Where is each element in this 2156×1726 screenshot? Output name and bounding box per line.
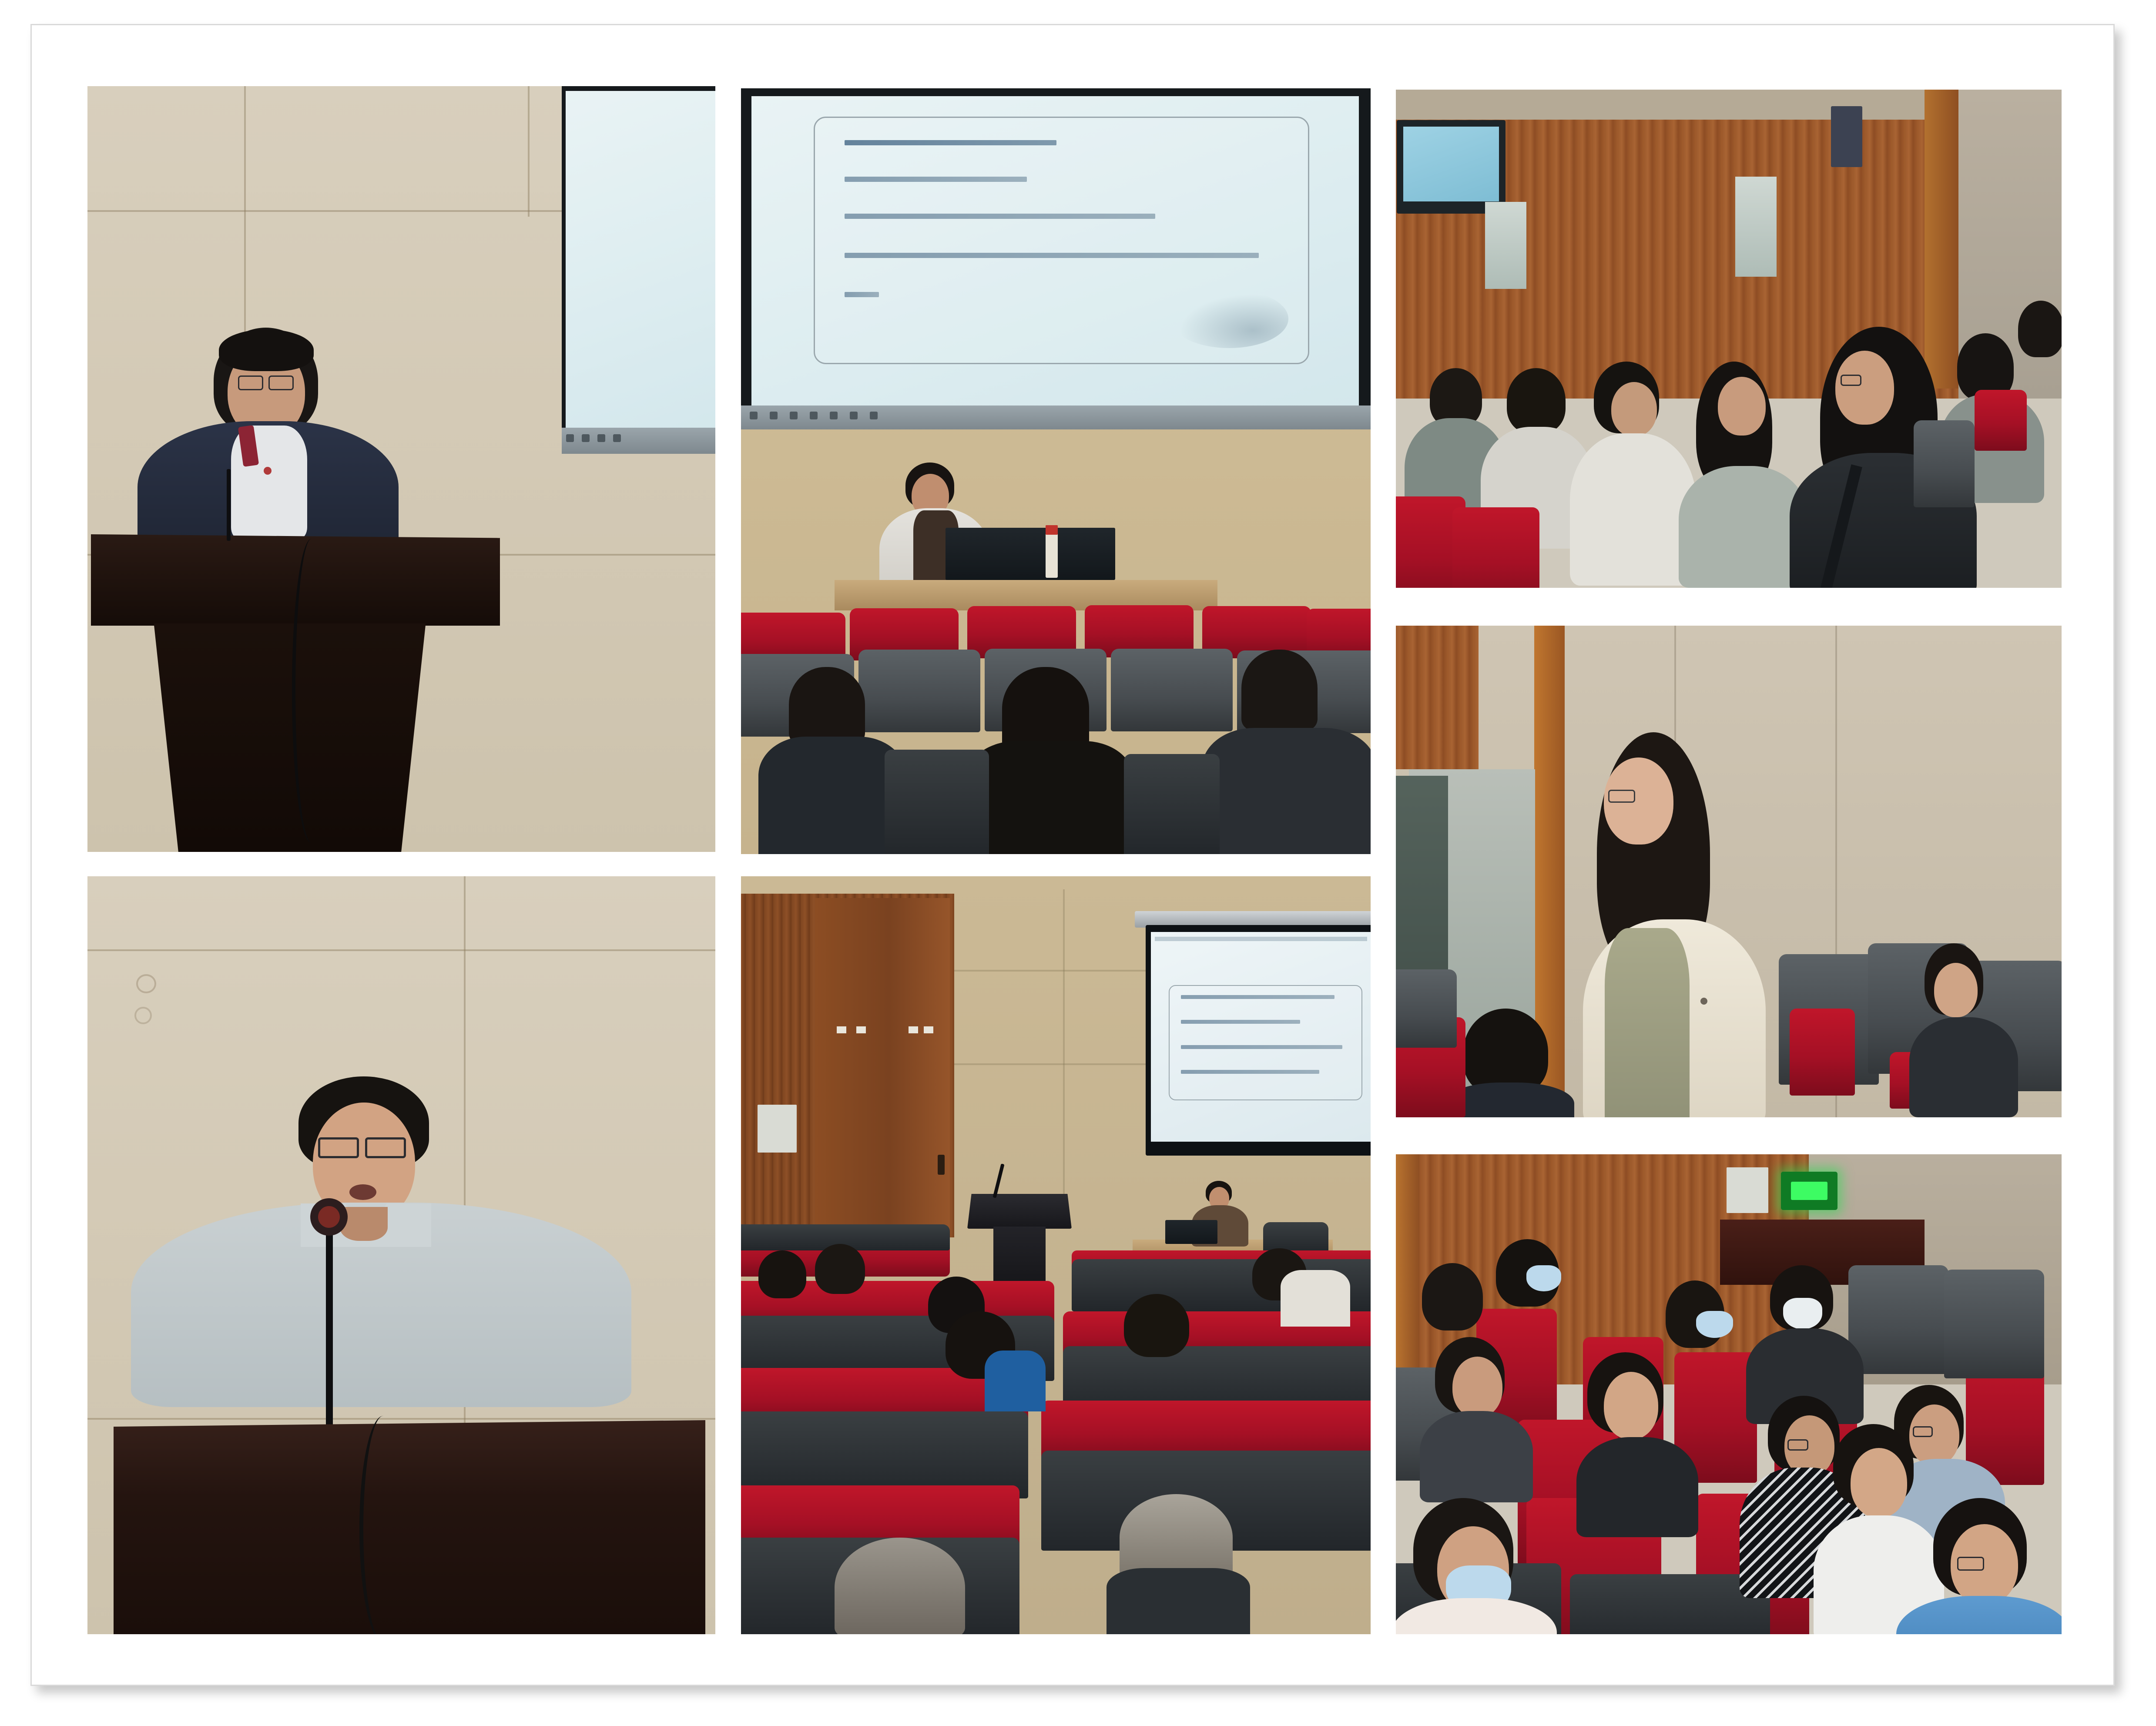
podium-body (135, 623, 444, 852)
attendee-head (1241, 650, 1318, 730)
attendee-body (1909, 1017, 2018, 1117)
seat (1452, 507, 1539, 588)
projection-screen (741, 88, 1371, 429)
wall-joint (1063, 889, 1065, 1194)
attendee-face (1934, 963, 1978, 1017)
photo-grid (87, 86, 2062, 1634)
seat (1944, 1270, 2044, 1378)
exit-sign (1781, 1172, 1837, 1210)
photo-bottom-left[interactable] (87, 876, 715, 1634)
laptop (1165, 1220, 1217, 1244)
door-sign (837, 1026, 846, 1033)
seat (1124, 754, 1220, 854)
attendee-glasses (1913, 1426, 1933, 1437)
speaker-figure (114, 328, 418, 571)
attendee-head (1507, 368, 1566, 433)
wall-grout-line (528, 86, 530, 217)
screen-taskbar (741, 406, 1371, 429)
attendee-body (1281, 1270, 1350, 1327)
slide-decoration-swoosh (1170, 289, 1288, 348)
attendee-face (1611, 382, 1657, 436)
speaker-glasses (365, 1137, 406, 1158)
slide-text-line (1181, 1045, 1342, 1049)
seat (1790, 1009, 1855, 1096)
attendee-body (758, 737, 906, 854)
attendee-glasses (1841, 375, 1861, 386)
bottle-cap (1046, 525, 1058, 535)
slide-text-line (845, 292, 879, 297)
attendee-body (1107, 1568, 1250, 1634)
speaker-glasses (318, 1137, 359, 1158)
wall-grout-line (87, 949, 715, 951)
photo-top-left[interactable] (87, 86, 715, 852)
seat (1914, 420, 1975, 507)
projection-screen (562, 86, 715, 454)
photo-top-center[interactable] (741, 88, 1371, 854)
microphone-stand (227, 469, 231, 541)
speaker-glasses (268, 375, 294, 390)
photo-top-right[interactable] (1396, 90, 2062, 588)
seat (885, 750, 989, 854)
door-handle (938, 1155, 945, 1175)
slide-text-line (1181, 1070, 1319, 1074)
projection-screen (1146, 925, 1371, 1156)
standing-woman (1570, 732, 1787, 1117)
microphone-cable (359, 1416, 407, 1634)
face-mask (1526, 1265, 1561, 1291)
face-mask (1783, 1298, 1822, 1329)
attendee-head (1422, 1263, 1483, 1331)
attendee-body (985, 1351, 1046, 1411)
door-sign (924, 1026, 933, 1033)
attendee-head (789, 667, 865, 745)
wall-marks (136, 974, 156, 993)
attendee-head-gray (835, 1538, 965, 1634)
photo-middle-right[interactable] (1396, 626, 2062, 1117)
attendee-body (1570, 433, 1696, 586)
attendee-face (1604, 1372, 1658, 1439)
attendee-head (815, 1244, 865, 1294)
wood-corner-panel (1396, 626, 1479, 769)
laptop (946, 528, 1115, 580)
microphone-foam (318, 1206, 340, 1228)
attendee-face (1718, 377, 1766, 436)
slide-content-box (814, 117, 1309, 364)
attendee-body (1420, 1411, 1533, 1502)
face-mask (1696, 1311, 1733, 1338)
exit-sign-glyph (1791, 1182, 1827, 1200)
slide-text-line (845, 214, 1155, 219)
seat (1396, 969, 1457, 1048)
speaker-glasses (238, 375, 263, 390)
attendee-body (1576, 1437, 1698, 1537)
slide-title-line (845, 140, 1056, 145)
projection-screen-surface (566, 91, 715, 432)
woman-dress (1605, 928, 1690, 1117)
door-sign (909, 1026, 918, 1033)
podium-top (114, 1420, 705, 1634)
chair (1263, 1222, 1328, 1253)
button (264, 467, 272, 475)
seat (1111, 649, 1233, 731)
speaker-figure (127, 1076, 640, 1407)
photo-bottom-center[interactable] (741, 876, 1371, 1634)
attendee-glasses (1957, 1557, 1984, 1571)
slide-text-line (845, 253, 1259, 258)
water-bottle (1046, 532, 1058, 578)
door-sign (856, 1026, 866, 1033)
attendee-body (967, 741, 1133, 854)
slide-text-line (1181, 995, 1335, 999)
attendee-glasses (1787, 1439, 1808, 1451)
attendee-head (1124, 1294, 1189, 1357)
seat (1848, 1265, 1948, 1374)
cardigan-button (1700, 998, 1707, 1005)
photo-bottom-right[interactable] (1396, 1154, 2062, 1634)
attendee-head (2018, 301, 2062, 357)
screen-taskbar (562, 428, 715, 454)
seat (1975, 390, 2027, 451)
seat (858, 650, 980, 732)
speaker-hair-front (219, 329, 314, 371)
attendee-face (1835, 351, 1894, 425)
attendee-head (758, 1250, 806, 1298)
woman-glasses (1608, 790, 1635, 803)
wall-marks (134, 1007, 152, 1024)
slide-text-line (845, 177, 1027, 182)
slide-text-line (1181, 1020, 1300, 1024)
wall-grout-line (87, 1418, 715, 1420)
slide-top-strip (1155, 937, 1367, 941)
speaker-mouth (349, 1184, 376, 1200)
collage-page (30, 24, 2115, 1686)
slide-content-box (1169, 985, 1362, 1100)
microphone-cable (292, 539, 331, 843)
wall-sign (1727, 1167, 1768, 1213)
wood-trim (1396, 1154, 1419, 1384)
wall-notice (758, 1105, 797, 1153)
microphone-stand (326, 1224, 333, 1429)
door-panel (815, 898, 950, 1237)
attendee-face (1452, 1357, 1502, 1418)
podium (967, 1194, 1072, 1229)
attendee-body (1202, 728, 1371, 854)
attendee-face (1851, 1448, 1907, 1518)
